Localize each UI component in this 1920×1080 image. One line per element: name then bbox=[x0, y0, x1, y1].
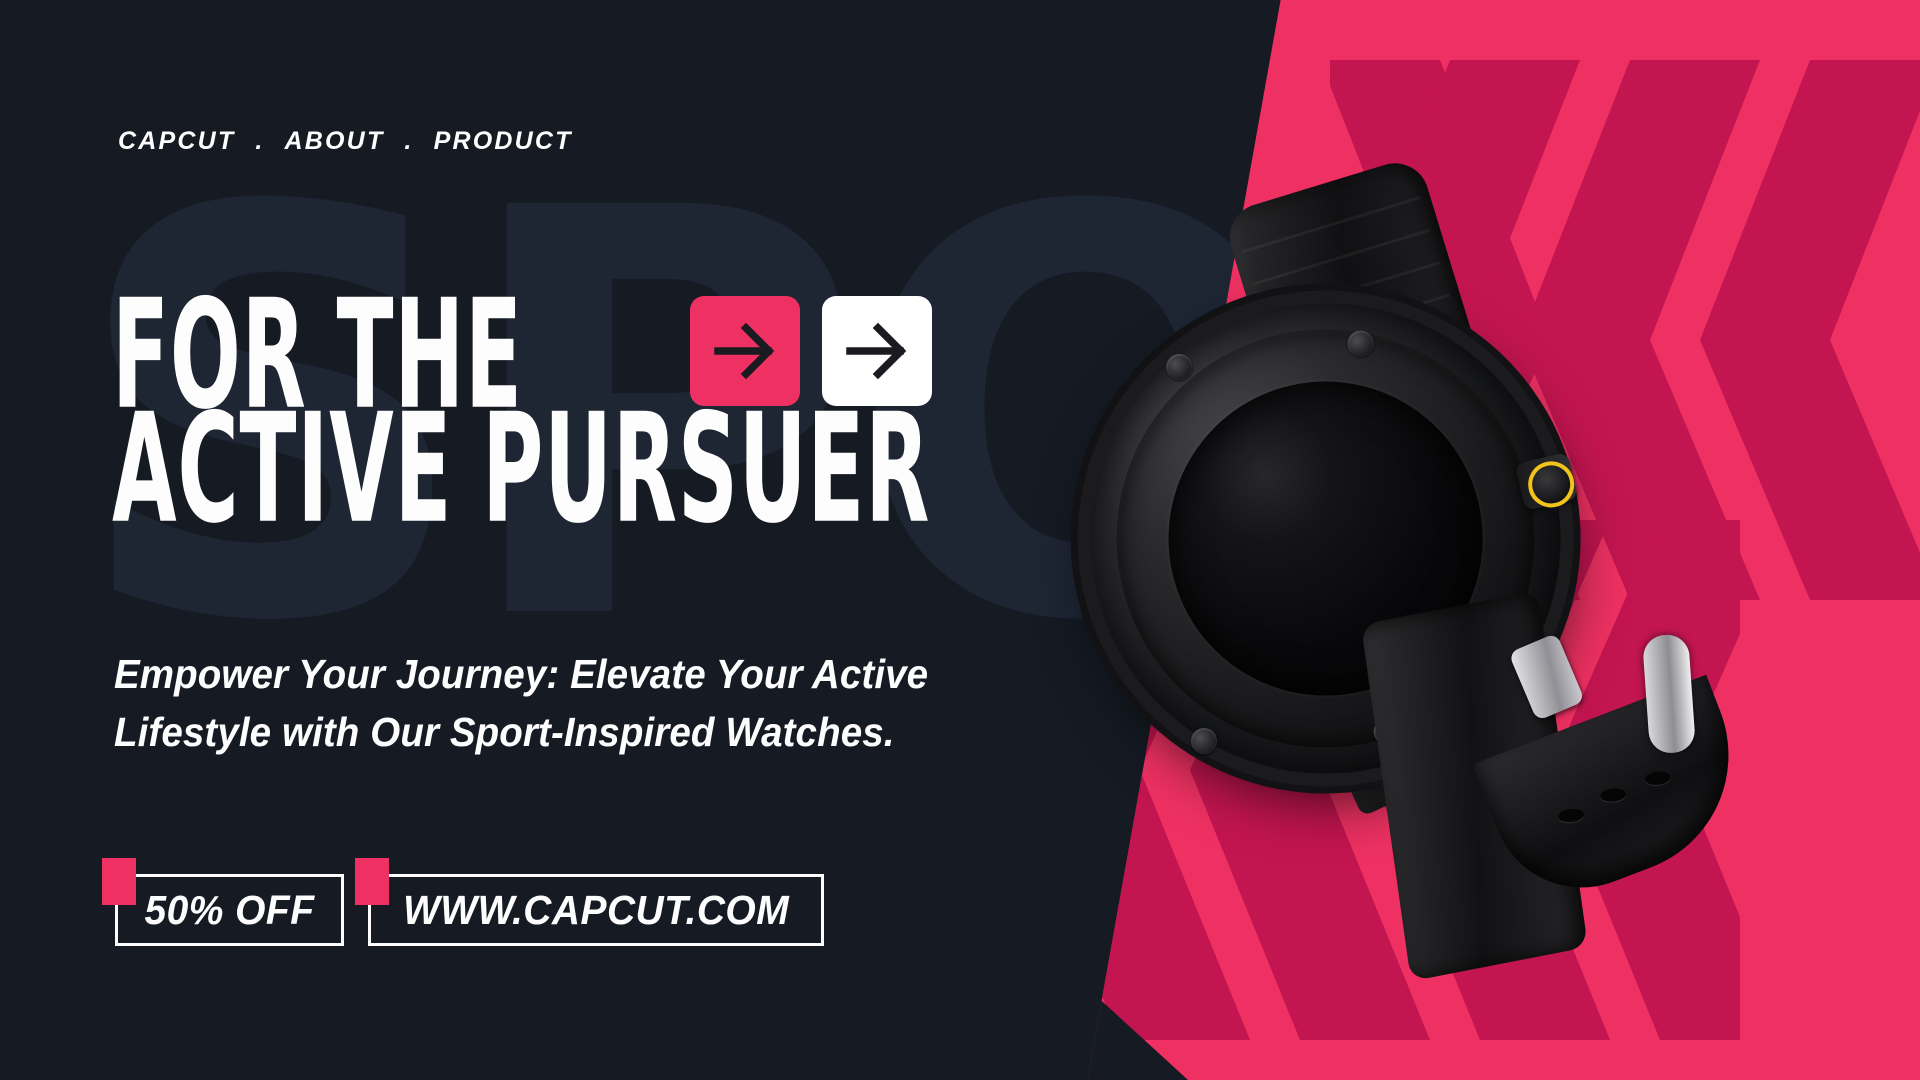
badge-website[interactable]: WWW.CAPCUT.COM bbox=[368, 874, 824, 946]
badge-discount-label: 50% OFF bbox=[144, 887, 314, 934]
nav-item-about[interactable]: ABOUT bbox=[285, 127, 385, 156]
subheading-block: Empower Your Journey: Elevate Your Activ… bbox=[114, 645, 928, 761]
badge-corner-accent bbox=[102, 858, 136, 905]
badge-group: 50% OFF WWW.CAPCUT.COM bbox=[115, 874, 824, 946]
promo-banner: SPO bbox=[0, 0, 1920, 1080]
badge-corner-accent bbox=[355, 858, 389, 905]
nav-item-product[interactable]: PRODUCT bbox=[434, 127, 573, 156]
nav-separator-2: . bbox=[398, 127, 419, 156]
watch-crown-button bbox=[1515, 452, 1578, 511]
watch-buckle bbox=[1642, 633, 1696, 754]
nav-separator-1: . bbox=[249, 127, 270, 156]
headline-line-2: ACTIVE PURSUER bbox=[112, 405, 930, 535]
nav-item-capcut[interactable]: CAPCUT bbox=[118, 127, 235, 156]
badge-website-label: WWW.CAPCUT.COM bbox=[403, 887, 789, 934]
subheading-line-1: Empower Your Journey: Elevate Your Activ… bbox=[114, 645, 928, 703]
badge-discount: 50% OFF bbox=[115, 874, 344, 946]
arrow-right-icon bbox=[712, 318, 778, 384]
product-image-smartwatch bbox=[1085, 175, 1805, 965]
top-navigation: CAPCUT . ABOUT . PRODUCT bbox=[118, 127, 573, 156]
headline-block: FOR THE bbox=[112, 296, 1135, 520]
watch-screw-bottom-left bbox=[1188, 725, 1219, 756]
subheading-line-2: Lifestyle with Our Sport-Inspired Watche… bbox=[114, 703, 928, 761]
arrow-right-icon bbox=[844, 318, 910, 384]
